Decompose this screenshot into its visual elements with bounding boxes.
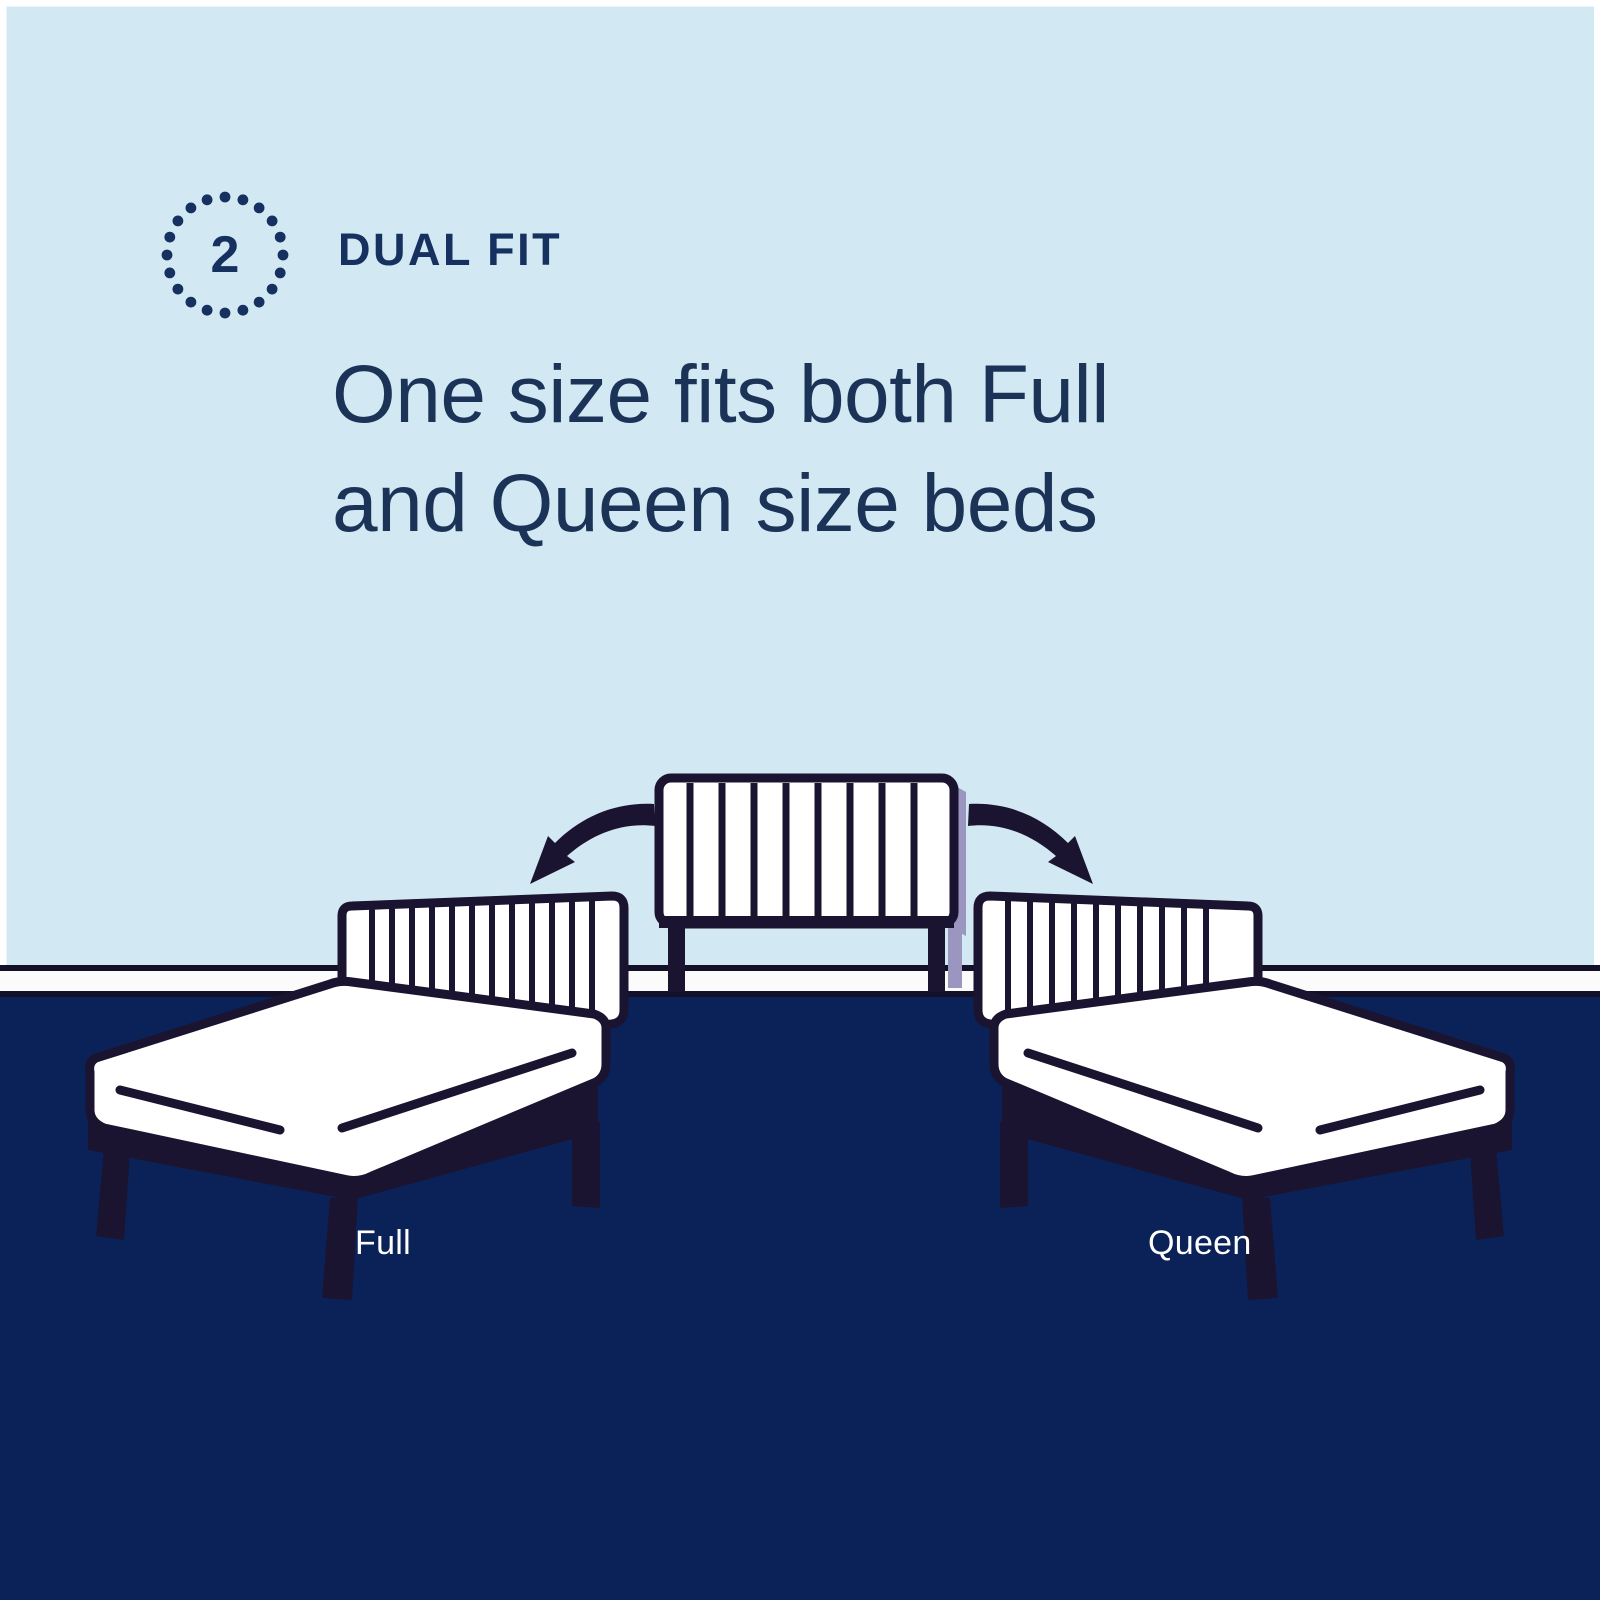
arrow-to-full-icon	[530, 804, 655, 884]
bed-queen-leg-left	[1000, 1122, 1028, 1208]
headboard-bottom-rail	[659, 916, 954, 928]
infographic-canvas: 2 DUAL FIT One size fits both Full and Q…	[0, 0, 1600, 1600]
bed-full-leg-right	[572, 1122, 600, 1208]
bed-queen-leg-front-right	[1470, 1148, 1504, 1240]
headboard-panel	[659, 778, 954, 924]
bed-full-leg-front-center	[322, 1196, 358, 1300]
bed-full-leg-front-left	[96, 1148, 130, 1240]
arrow-to-queen-icon	[968, 804, 1093, 884]
bed-label-queen: Queen	[1148, 1224, 1252, 1263]
bed-illustration	[0, 0, 1600, 1600]
headboard-leg-shadow	[948, 918, 962, 988]
bed-label-full: Full	[355, 1224, 411, 1263]
center-headboard	[659, 778, 966, 992]
